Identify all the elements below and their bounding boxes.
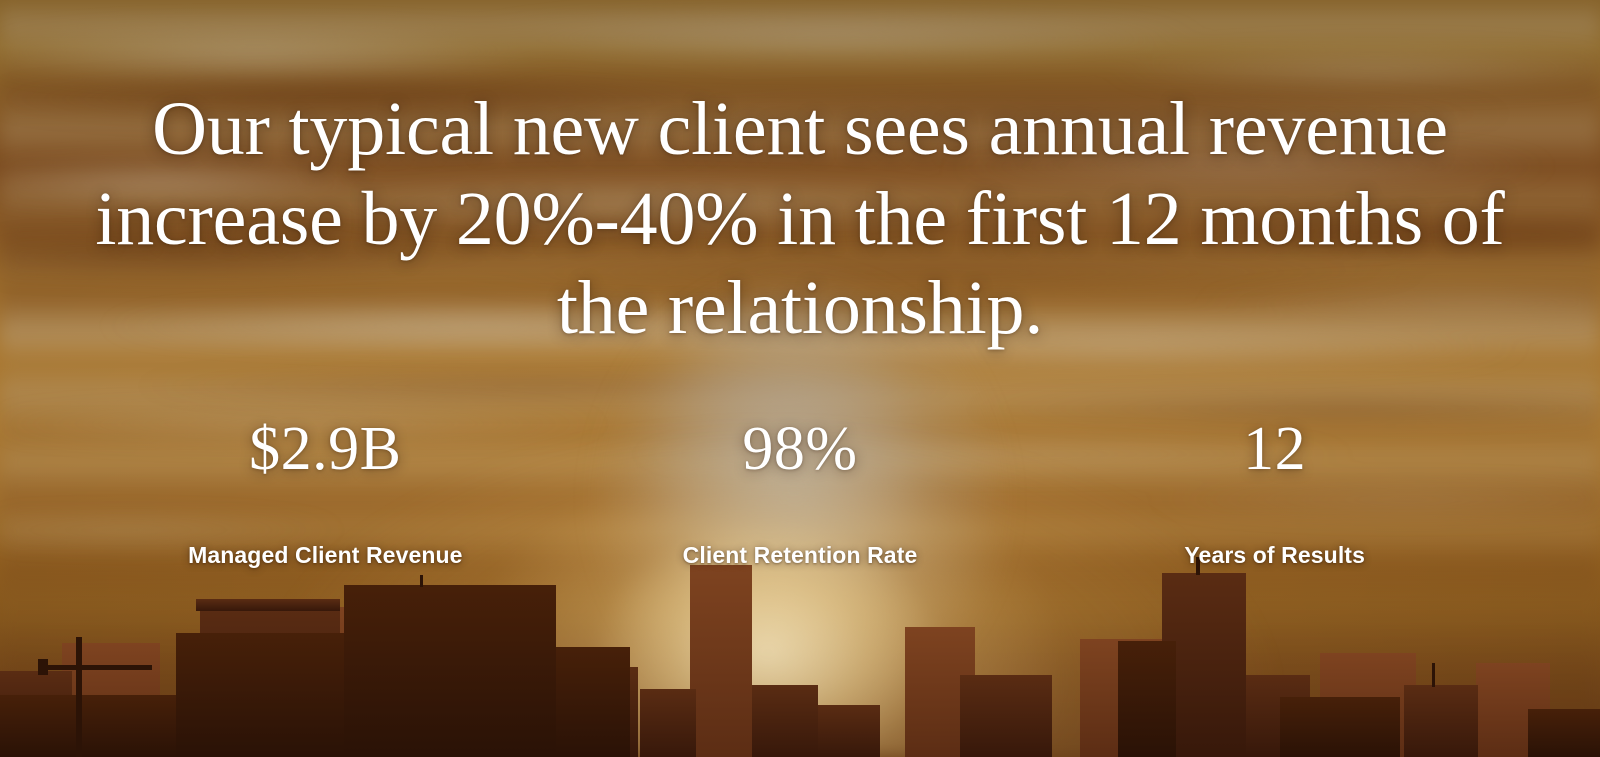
stat-label: Managed Client Revenue — [88, 542, 563, 569]
hero-content: Our typical new client sees annual reven… — [0, 0, 1600, 757]
stat-label: Client Retention Rate — [563, 542, 1038, 569]
stat-value: $2.9B — [88, 418, 563, 480]
stats-row: $2.9B Managed Client Revenue 98% Client … — [0, 418, 1600, 569]
stat-item-client-retention-rate: 98% Client Retention Rate — [563, 418, 1038, 569]
hero-section: Our typical new client sees annual reven… — [0, 0, 1600, 757]
stat-value: 98% — [563, 418, 1038, 480]
page-title: Our typical new client sees annual reven… — [90, 85, 1510, 354]
stat-label: Years of Results — [1037, 542, 1512, 569]
stat-item-managed-client-revenue: $2.9B Managed Client Revenue — [88, 418, 563, 569]
stat-item-years-of-results: 12 Years of Results — [1037, 418, 1512, 569]
stat-value: 12 — [1037, 418, 1512, 480]
